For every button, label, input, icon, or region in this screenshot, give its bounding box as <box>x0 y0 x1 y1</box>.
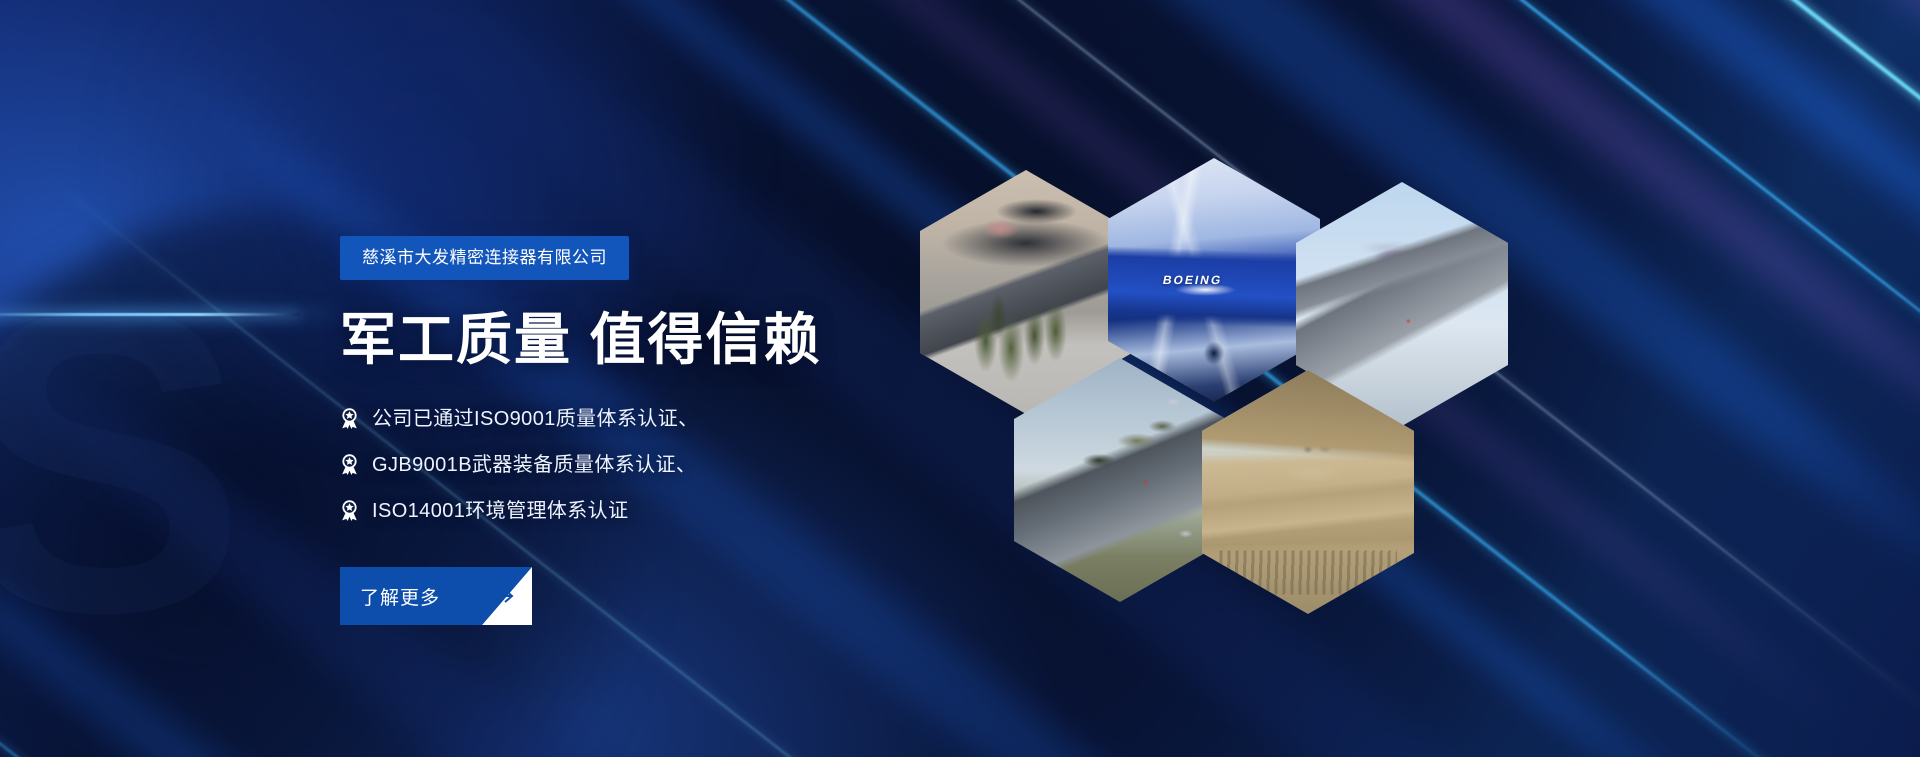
list-item: ISO14001环境管理体系认证 <box>340 500 960 521</box>
lens-flare-line <box>0 313 300 316</box>
arrow-right-icon <box>468 567 522 625</box>
background-ghost-glyph: S <box>0 290 237 634</box>
learn-more-button[interactable]: 了解更多 <box>340 567 532 625</box>
hero-content: 慈溪市大发精密连接器有限公司 军工质量 值得信赖 公司已通过ISO9001质量体… <box>340 236 960 630</box>
list-item: 公司已通过ISO9001质量体系认证、 <box>340 408 960 429</box>
company-name-badge: 慈溪市大发精密连接器有限公司 <box>340 236 629 280</box>
hexagon-image-cluster: BOEING <box>920 158 1530 628</box>
hero-banner: S BOEING <box>0 0 1920 757</box>
cta-label: 了解更多 <box>360 567 440 625</box>
list-item: GJB9001B武器装备质量体系认证、 <box>340 454 960 475</box>
page-title: 军工质量 值得信赖 <box>340 312 960 368</box>
boeing-logo: BOEING <box>1162 273 1224 287</box>
certification-list: 公司已通过ISO9001质量体系认证、 GJB9001B武器装备质量体系认证、 … <box>340 408 960 521</box>
medal-icon <box>340 500 359 521</box>
medal-icon <box>340 454 359 475</box>
list-item-label: GJB9001B武器装备质量体系认证、 <box>372 455 696 475</box>
list-item-label: 公司已通过ISO9001质量体系认证、 <box>372 409 699 429</box>
boeing-aircraft-photo: BOEING <box>1108 158 1320 402</box>
medal-icon <box>340 408 359 429</box>
list-item-label: ISO14001环境管理体系认证 <box>372 501 628 521</box>
